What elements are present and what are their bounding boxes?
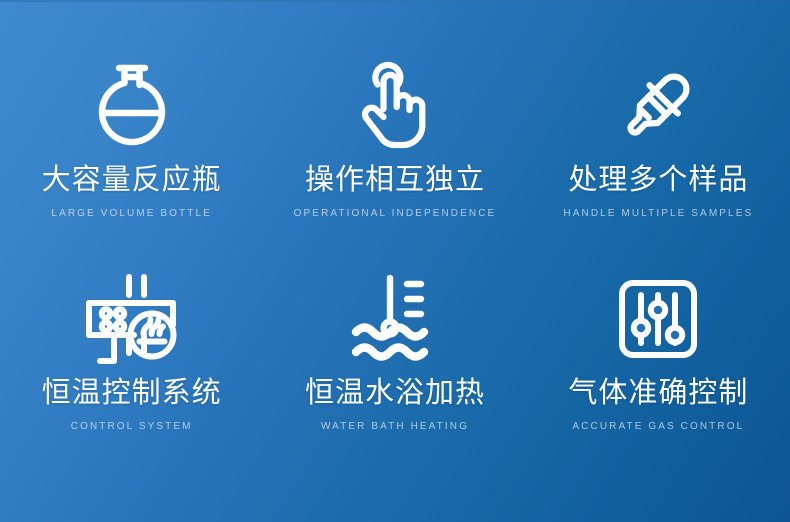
feature-subtitle: CONTROL SYSTEM — [71, 421, 193, 432]
feature-subtitle: HANDLE MULTIPLE SAMPLES — [563, 208, 753, 219]
feature-subtitle: WATER BATH HEATING — [321, 421, 469, 432]
feature-title: 操作相互独立 — [305, 163, 485, 197]
pipette-dropper-icon — [615, 52, 701, 157]
feature-title: 恒温水浴加热 — [305, 376, 485, 410]
feature-item-handle-multiple-samples: 处理多个样品 HANDLE MULTIPLE SAMPLES — [527, 52, 790, 267]
feature-subtitle: OPERATIONAL INDEPENDENCE — [294, 208, 497, 219]
feature-item-large-volume-bottle: 大容量反应瓶 LARGE VOLUME BOTTLE — [0, 52, 263, 267]
feature-item-water-bath-heating: 恒温水浴加热 WATER BATH HEATING — [263, 267, 526, 482]
feature-item-accurate-gas-control: 气体准确控制 ACCURATE GAS CONTROL — [527, 267, 790, 482]
tapping-hand-icon — [355, 52, 435, 157]
feature-title: 处理多个样品 — [568, 163, 748, 197]
feature-item-control-system: 恒温控制系统 CONTROL SYSTEM — [0, 267, 263, 482]
round-bottom-flask-icon — [93, 52, 171, 157]
feature-item-operational-independence: 操作相互独立 OPERATIONAL INDEPENDENCE — [263, 52, 526, 267]
feature-title: 大容量反应瓶 — [42, 163, 222, 197]
feature-title: 气体准确控制 — [568, 376, 748, 410]
feature-grid: 大容量反应瓶 LARGE VOLUME BOTTLE 操作相互独立 OPERAT… — [0, 52, 790, 482]
top-divider-rule — [0, 0, 790, 2]
feature-subtitle: LARGE VOLUME BOTTLE — [51, 208, 212, 219]
feature-subtitle: ACCURATE GAS CONTROL — [572, 421, 744, 432]
feature-title: 恒温控制系统 — [42, 376, 222, 410]
heating-control-panel-icon — [82, 267, 182, 370]
slider-controls-icon — [618, 267, 698, 370]
thermometer-water-waves-icon — [352, 267, 438, 370]
feature-banner: 大容量反应瓶 LARGE VOLUME BOTTLE 操作相互独立 OPERAT… — [0, 0, 790, 522]
